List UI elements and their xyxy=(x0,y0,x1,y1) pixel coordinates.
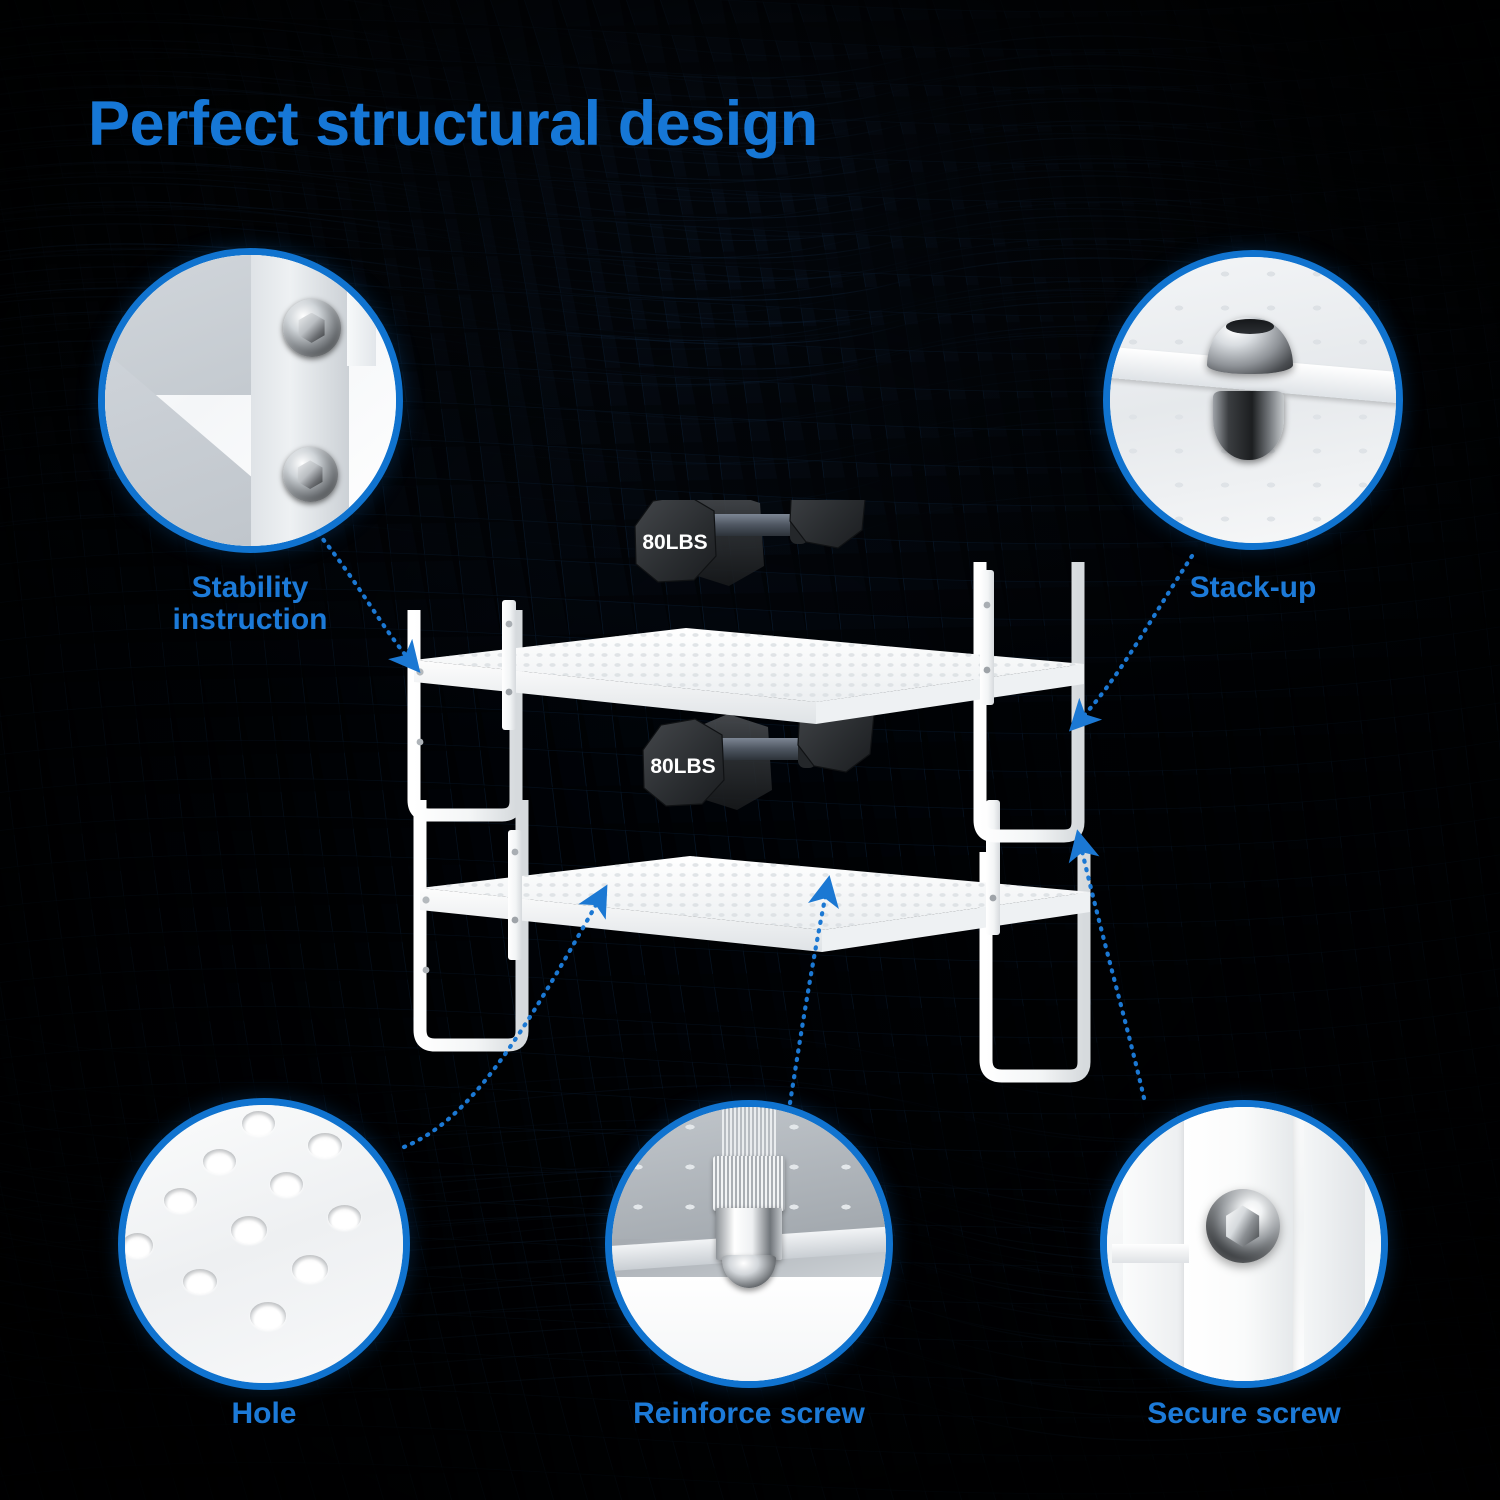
reinforce-screw-detail-image xyxy=(612,1107,886,1381)
hole-icon xyxy=(231,1216,267,1244)
callout-label-hole: Hole xyxy=(114,1398,414,1430)
callout-label-secure-screw: Secure screw xyxy=(1094,1398,1394,1430)
callout-label-stability-instruction: Stability instruction xyxy=(100,572,400,637)
hole-icon xyxy=(203,1149,236,1174)
rack-side-panel xyxy=(1304,1118,1364,1381)
reinforce-screw-circle xyxy=(605,1100,893,1388)
callout-label-stack-up: Stack-up xyxy=(1103,572,1403,604)
hole-icon xyxy=(270,1172,303,1197)
secure-screw-hex-bolt-icon xyxy=(1206,1189,1280,1263)
dumbbell-weight-label-upper: 80LBS xyxy=(642,531,707,554)
hole-icon xyxy=(183,1269,216,1294)
shelf-edge-line xyxy=(1112,1244,1189,1263)
hole-icon xyxy=(164,1188,197,1213)
product-shelf-rack-illustration: 80LBS 80LBS xyxy=(390,500,1120,1100)
infographic-stage: Perfect structural design Stability inst… xyxy=(0,0,1500,1500)
floor-surface xyxy=(617,1277,886,1388)
stack-up-circle xyxy=(1103,250,1403,550)
hex-screw-icon xyxy=(283,299,341,357)
bracket-upright-post xyxy=(251,248,350,553)
stack-up-detail-image xyxy=(1110,257,1396,543)
hole-icon xyxy=(250,1302,286,1330)
page-title: Perfect structural design xyxy=(88,88,818,160)
stability-instruction-circle xyxy=(98,248,403,553)
hole-icon xyxy=(242,1111,275,1136)
hole-detail-image xyxy=(125,1105,403,1383)
hole-icon xyxy=(328,1205,361,1230)
bracket-edge-highlight xyxy=(347,248,376,366)
reinforce-screw-knurled-barrel xyxy=(713,1156,784,1211)
hex-screw-icon xyxy=(283,447,338,502)
bracket-detail-image xyxy=(105,255,396,546)
dumbbell-weight-label-lower: 80LBS xyxy=(650,755,715,778)
secure-screw-detail-image xyxy=(1107,1107,1381,1381)
dumbbell-upper: 80LBS xyxy=(635,500,866,586)
hole-icon xyxy=(308,1133,341,1158)
hole-icon xyxy=(122,1233,153,1258)
callout-label-reinforce-screw: Reinforce screw xyxy=(599,1398,899,1430)
hole-icon xyxy=(142,1122,173,1144)
hole-icon xyxy=(292,1255,328,1283)
reinforce-screw-chrome-barrel xyxy=(716,1208,782,1260)
hole-circle xyxy=(118,1098,410,1390)
secure-screw-circle xyxy=(1100,1100,1388,1388)
